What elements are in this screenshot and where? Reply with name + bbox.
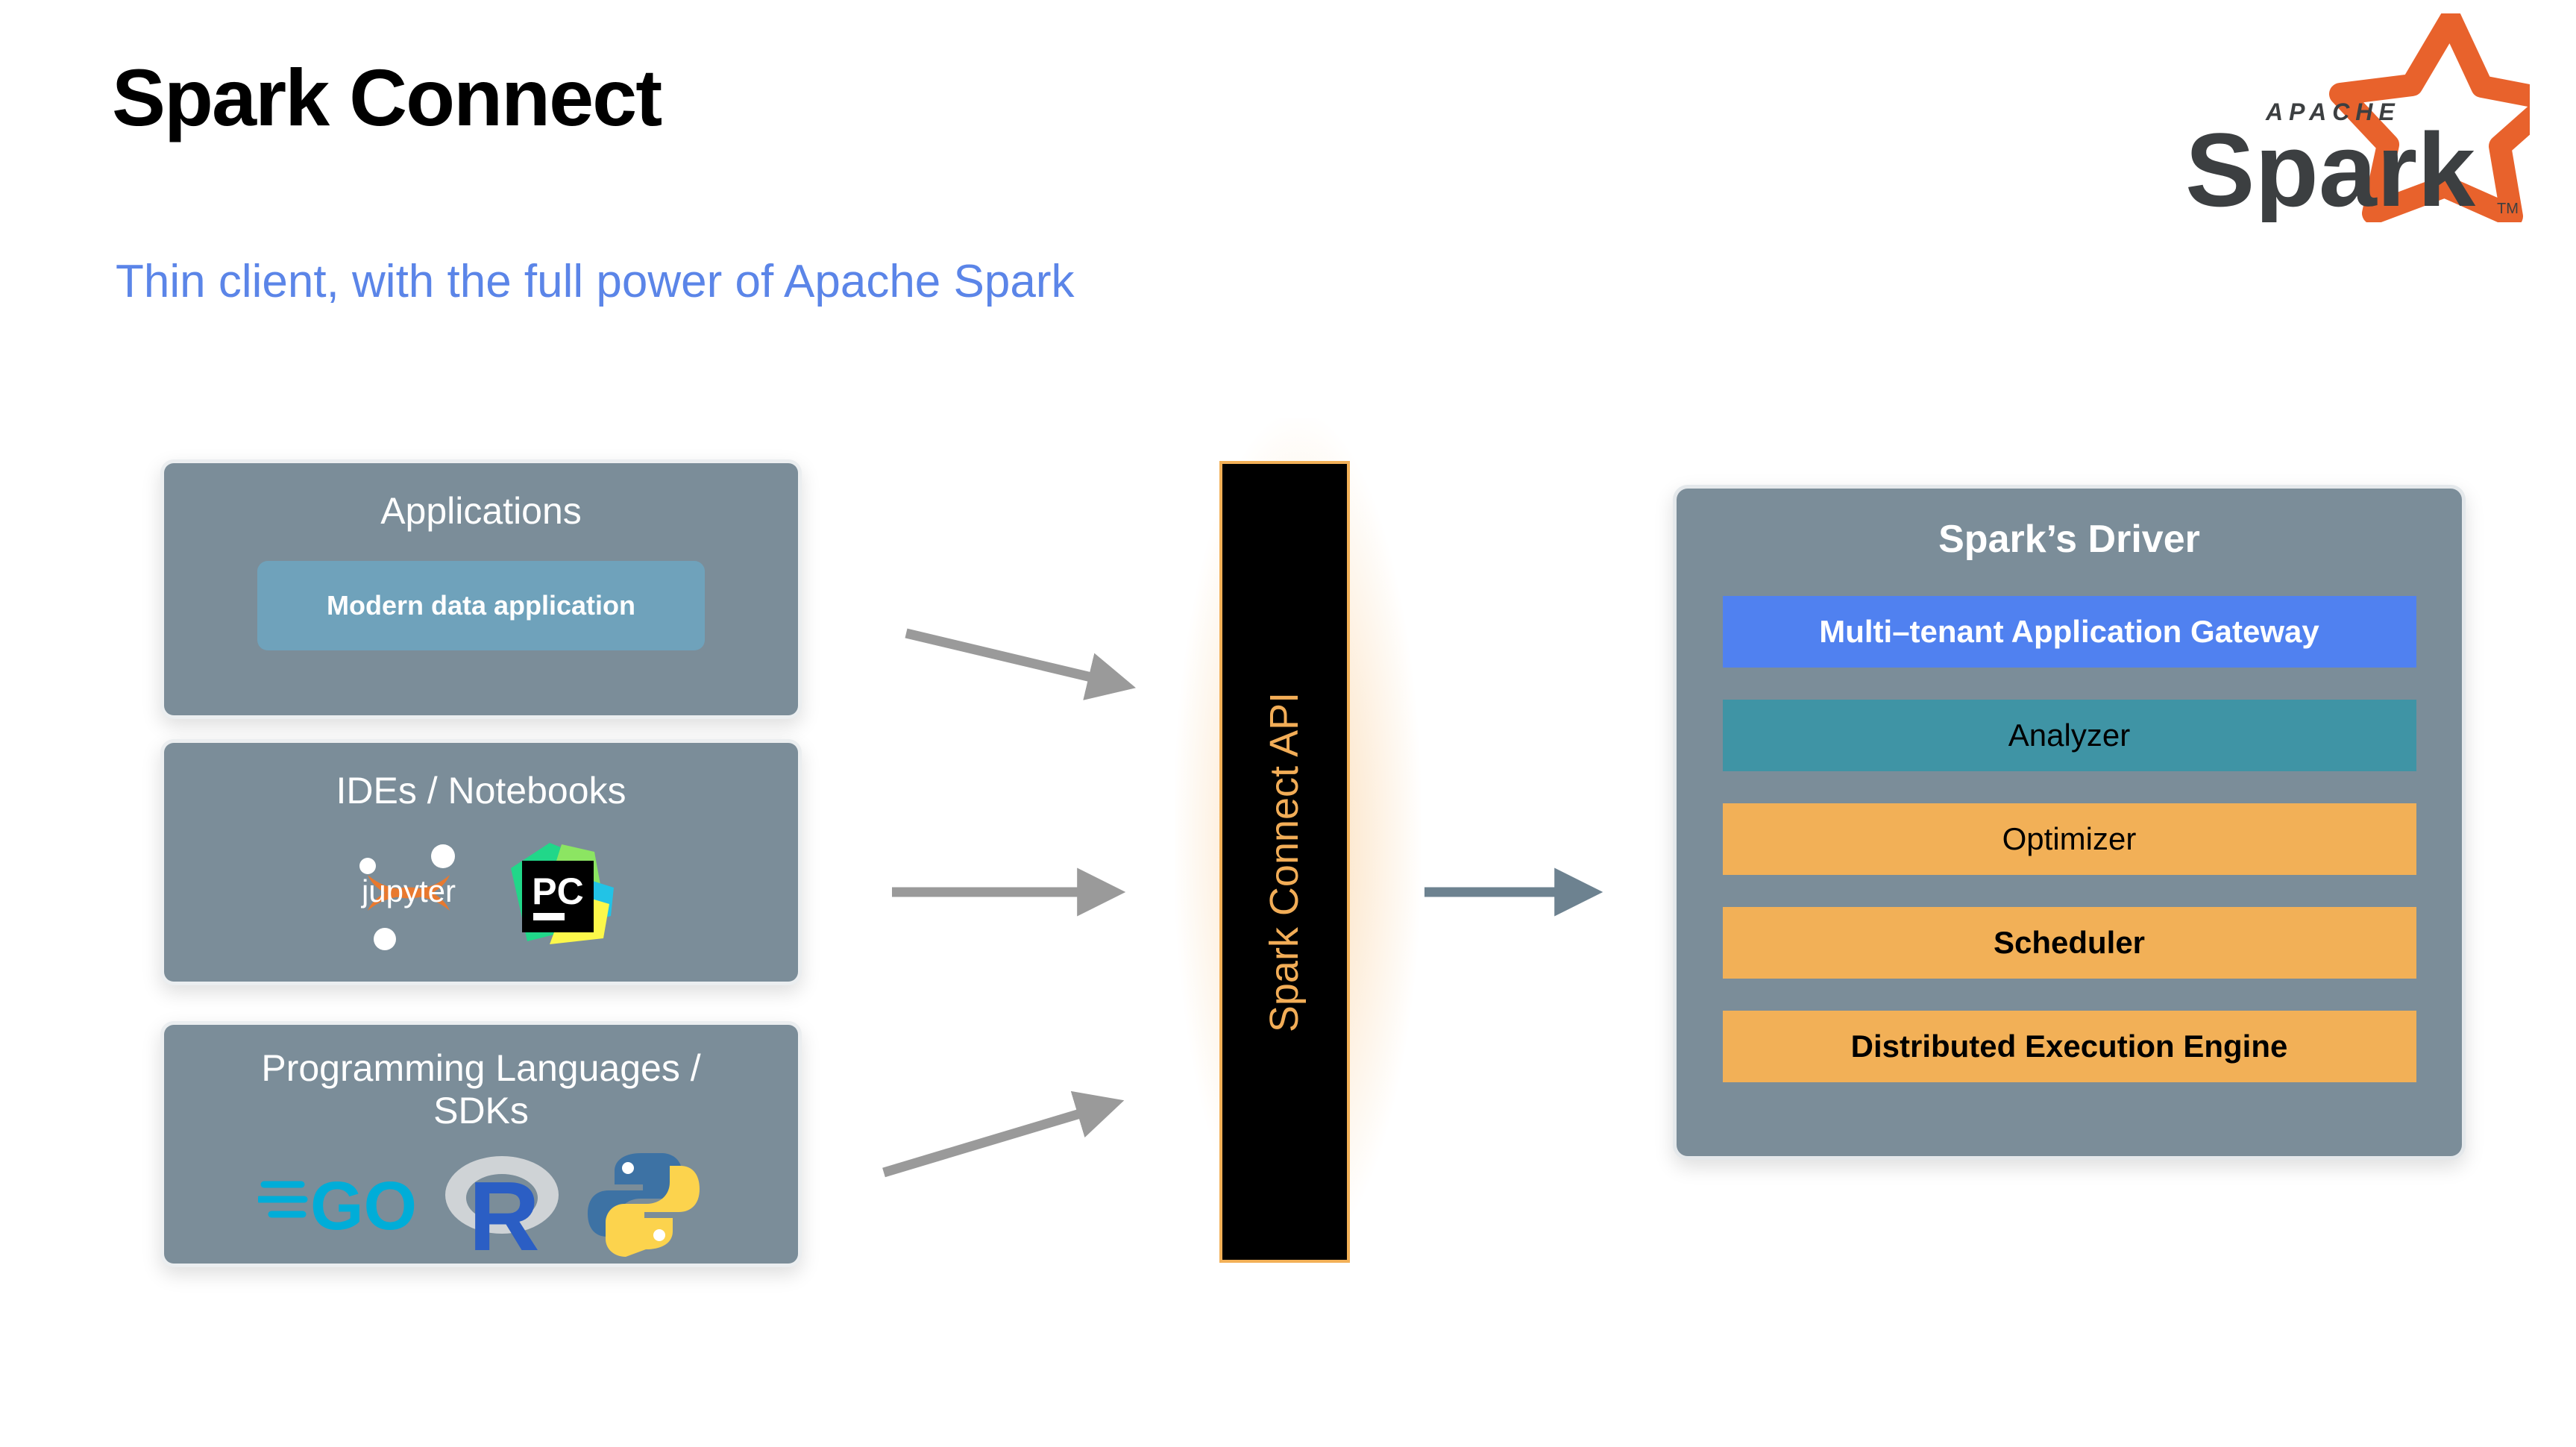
driver-row-optimizer[interactable]: Optimizer xyxy=(1723,803,2416,875)
jupyter-logo: jupyter xyxy=(345,829,472,959)
go-wordmark: GO xyxy=(310,1168,417,1244)
apache-spark-logo: APACHE Spark TM xyxy=(2149,13,2530,222)
card-title: Programming Languages / SDKs xyxy=(164,1047,798,1132)
pycharm-wordmark: PC xyxy=(532,870,583,912)
logo-wordmark: Spark xyxy=(2185,111,2475,222)
r-logo: R xyxy=(439,1146,565,1261)
arrow-applications-to-api xyxy=(906,633,1104,680)
card-title-line2: SDKs xyxy=(164,1090,798,1132)
driver-row-gateway[interactable]: Multi–tenant Application Gateway xyxy=(1723,596,2416,668)
jupyter-wordmark: jupyter xyxy=(360,873,456,908)
card-title: Applications xyxy=(164,490,798,533)
ide-logo-row: jupyter PC xyxy=(164,829,798,959)
driver-row-label: Optimizer xyxy=(2002,821,2137,857)
modern-data-application-chip[interactable]: Modern data application xyxy=(257,561,705,650)
driver-row-label: Scheduler xyxy=(1994,925,2145,961)
go-logo: GO xyxy=(258,1153,422,1254)
driver-row-scheduler[interactable]: Scheduler xyxy=(1723,907,2416,979)
client-card-applications[interactable]: Applications Modern data application xyxy=(160,459,802,719)
card-title: IDEs / Notebooks xyxy=(164,770,798,812)
driver-row-label: Multi–tenant Application Gateway xyxy=(1819,614,2319,650)
logo-trademark: TM xyxy=(2497,201,2519,217)
arrow-languages-to-api xyxy=(884,1110,1093,1173)
spark-connect-api-label: Spark Connect API xyxy=(1262,691,1308,1032)
spark-connect-api-bar[interactable]: Spark Connect API xyxy=(1219,461,1350,1263)
python-logo xyxy=(582,1140,705,1266)
page-title: Spark Connect xyxy=(112,51,661,144)
card-title-line1: Programming Languages / xyxy=(164,1047,798,1090)
driver-panel-title: Spark’s Driver xyxy=(1677,517,2462,562)
driver-row-execution-engine[interactable]: Distributed Execution Engine xyxy=(1723,1011,2416,1082)
pycharm-logo: PC xyxy=(497,832,617,955)
driver-row-label: Distributed Execution Engine xyxy=(1851,1029,2288,1064)
driver-row-label: Analyzer xyxy=(2008,718,2130,753)
language-logo-row: GO R xyxy=(164,1140,798,1266)
page-subtitle: Thin client, with the full power of Apac… xyxy=(116,255,1074,308)
driver-component-list: Multi–tenant Application Gateway Analyze… xyxy=(1677,596,2462,1082)
spark-driver-panel[interactable]: Spark’s Driver Multi–tenant Application … xyxy=(1673,485,2466,1160)
chip-label: Modern data application xyxy=(327,590,635,621)
client-card-ides-notebooks[interactable]: IDEs / Notebooks jupyter PC xyxy=(160,739,802,985)
client-card-programming-languages[interactable]: Programming Languages / SDKs GO R xyxy=(160,1021,802,1267)
driver-row-analyzer[interactable]: Analyzer xyxy=(1723,700,2416,771)
r-wordmark: R xyxy=(468,1161,539,1258)
